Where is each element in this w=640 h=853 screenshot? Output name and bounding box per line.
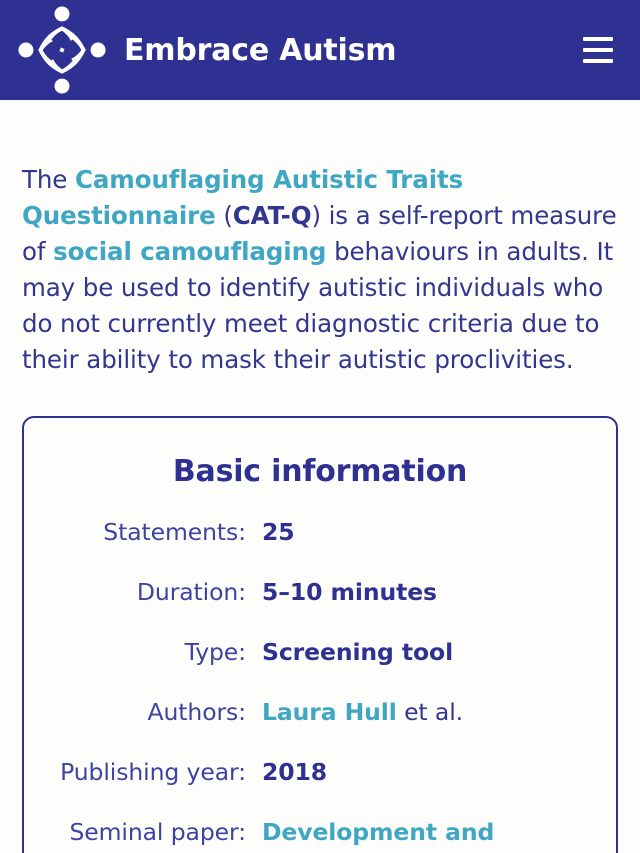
info-label-statements: Statements: [24, 515, 262, 549]
link-author-laura-hull[interactable]: Laura Hull [262, 698, 397, 726]
info-label-type: Type: [24, 635, 262, 669]
info-row-authors: Authors: Laura Hull et al. [24, 695, 616, 729]
intro-text-1: The [22, 165, 75, 194]
basic-information-list: Statements: 25 Duration: 5–10 minutes Ty… [24, 515, 616, 853]
info-row-duration: Duration: 5–10 minutes [24, 575, 616, 609]
info-label-seminal-paper: Seminal paper: [24, 815, 262, 849]
link-seminal-paper[interactable]: Development and Validation of the [262, 818, 494, 853]
intro-abbreviation: CAT-Q [233, 201, 312, 230]
info-label-duration: Duration: [24, 575, 262, 609]
menu-bar-middle [583, 48, 613, 52]
info-value-type: Screening tool [262, 635, 616, 669]
intro-paragraph: The Camouflaging Autistic Traits Questio… [22, 162, 618, 378]
brand-name: Embrace Autism [124, 33, 396, 68]
info-row-seminal-paper: Seminal paper: Development and Validatio… [24, 815, 616, 853]
info-row-type: Type: Screening tool [24, 635, 616, 669]
info-value-statements: 25 [262, 515, 616, 549]
hamburger-menu-icon[interactable] [578, 30, 618, 70]
menu-bar-bottom [583, 59, 613, 63]
info-value-publishing-year: 2018 [262, 755, 616, 789]
link-social-camouflaging[interactable]: social camouflaging [53, 237, 326, 266]
authors-suffix: et al. [397, 698, 463, 726]
info-label-authors: Authors: [24, 695, 262, 729]
info-value-seminal-paper: Development and Validation of the [262, 815, 616, 853]
site-header: Embrace Autism [0, 0, 640, 100]
card-title: Basic information [24, 454, 616, 489]
info-value-duration: 5–10 minutes [262, 575, 616, 609]
page-content: The Camouflaging Autistic Traits Questio… [0, 162, 640, 853]
info-row-statements: Statements: 25 [24, 515, 616, 549]
menu-bar-top [583, 37, 613, 41]
basic-information-card: Basic information Statements: 25 Duratio… [22, 416, 618, 853]
brand-home-link[interactable]: Embrace Autism [18, 6, 396, 94]
info-label-publishing-year: Publishing year: [24, 755, 262, 789]
info-row-publishing-year: Publishing year: 2018 [24, 755, 616, 789]
embrace-autism-flower-logo-icon [18, 6, 106, 94]
intro-text-2: ( [216, 201, 233, 230]
info-value-authors: Laura Hull et al. [262, 695, 616, 729]
